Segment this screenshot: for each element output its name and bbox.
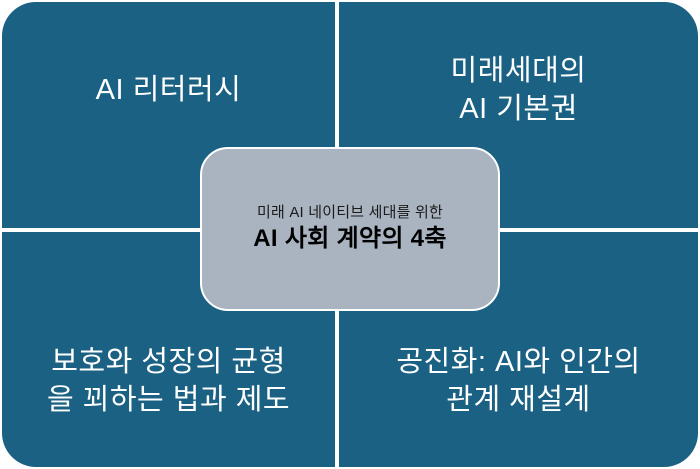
quadrant-bottom-right-line-2: 관계 재설계 (446, 384, 590, 416)
quadrant-bottom-left-line-1: 보호와 성장의 균형 (51, 346, 286, 378)
quadrant-top-right-line-1: 미래세대의 (451, 55, 587, 87)
center-title: AI 사회 계약의 4축 (253, 225, 446, 254)
center-node[interactable]: 미래 AI 네이티브 세대를 위한 AI 사회 계약의 4축 (200, 147, 500, 311)
quadrant-bottom-left-label: 보호와 성장의 균형 을 꾀하는 법과 제도 (12, 344, 325, 419)
smartart-matrix-diagram: AI 리터러시 미래세대의 AI 기본권 보호와 성장의 균형 을 꾀하는 법과… (0, 0, 700, 469)
quadrant-top-right-label: 미래세대의 AI 기본권 (349, 53, 688, 128)
quadrant-bottom-left-line-2: 을 꾀하는 법과 제도 (47, 384, 290, 416)
quadrant-top-right-line-2: AI 기본권 (459, 93, 578, 125)
center-subtitle: 미래 AI 네이티브 세대를 위한 (257, 204, 443, 222)
quadrant-top-left-line-1: AI 리터러시 (96, 74, 242, 106)
quadrant-bottom-right-label: 공진화: AI와 인간의 관계 재설계 (349, 344, 688, 419)
quadrant-bottom-right-line-1: 공진화: AI와 인간의 (396, 346, 640, 378)
quadrant-top-left-label: AI 리터러시 (12, 72, 325, 110)
